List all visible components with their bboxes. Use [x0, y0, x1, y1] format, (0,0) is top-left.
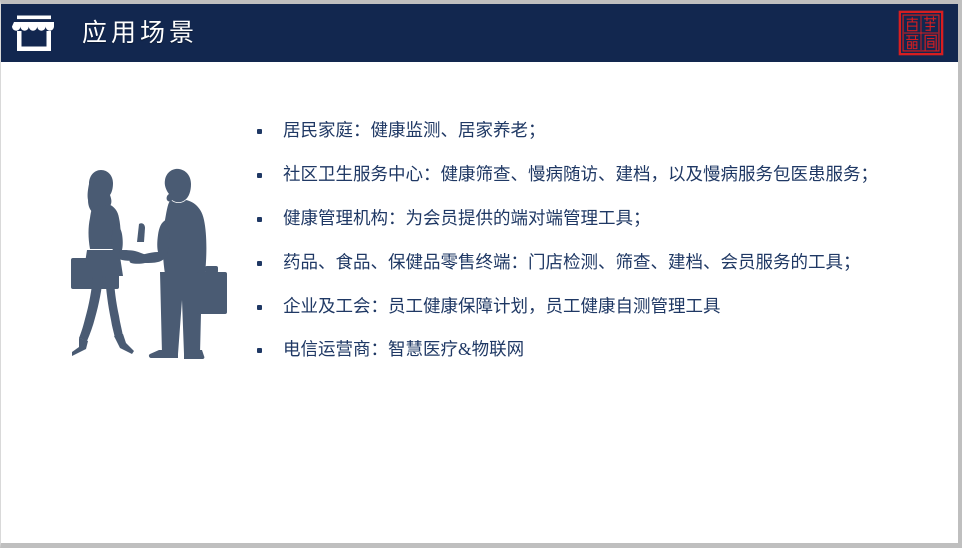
bullet-marker-icon [257, 129, 262, 134]
list-item-text: 药品、食品、保健品零售终端：门店检测、筛查、建档、会员服务的工具； [283, 252, 861, 272]
bullet-marker-icon [257, 173, 262, 178]
list-item: 居民家庭：健康监测、居家养老； [253, 120, 942, 142]
slide-canvas: 应用场景 [0, 0, 962, 548]
list-item-text: 企业及工会：员工健康保障计划，员工健康自测管理工具 [283, 296, 721, 316]
bullet-marker-icon [257, 261, 262, 266]
bullet-marker-icon [257, 348, 262, 353]
storefront-icon [11, 13, 57, 53]
list-item-text: 居民家庭：健康监测、居家养老； [283, 120, 546, 140]
bullet-marker-icon [257, 305, 262, 310]
list-item: 企业及工会：员工健康保障计划，员工健康自测管理工具 [253, 296, 942, 318]
list-item: 社区卫生服务中心：健康筛查、慢病随访、建档，以及慢病服务包医患服务； [253, 164, 942, 186]
header-band: 应用场景 [1, 4, 958, 62]
bullet-marker-icon [257, 217, 262, 222]
list-item: 健康管理机构：为会员提供的端对端管理工具； [253, 208, 942, 230]
bullet-list: 居民家庭：健康监测、居家养老； 社区卫生服务中心：健康筛查、慢病随访、建档，以及… [253, 120, 942, 383]
list-item-text: 社区卫生服务中心：健康筛查、慢病随访、建档，以及慢病服务包医患服务； [283, 164, 878, 184]
page-title: 应用场景 [82, 21, 198, 46]
list-item-text: 健康管理机构：为会员提供的端对端管理工具； [283, 208, 651, 228]
list-item: 药品、食品、保健品零售终端：门店检测、筛查、建档、会员服务的工具； [253, 252, 942, 274]
red-square-seal-stamp [898, 10, 944, 56]
slide-body: 居民家庭：健康监测、居家养老； 社区卫生服务中心：健康筛查、慢病随访、建档，以及… [1, 62, 958, 543]
list-item: 电信运营商：智慧医疗&物联网 [253, 339, 942, 361]
list-item-text: 电信运营商：智慧医疗&物联网 [283, 339, 524, 359]
two-business-people-handshake-silhouette [53, 162, 229, 392]
